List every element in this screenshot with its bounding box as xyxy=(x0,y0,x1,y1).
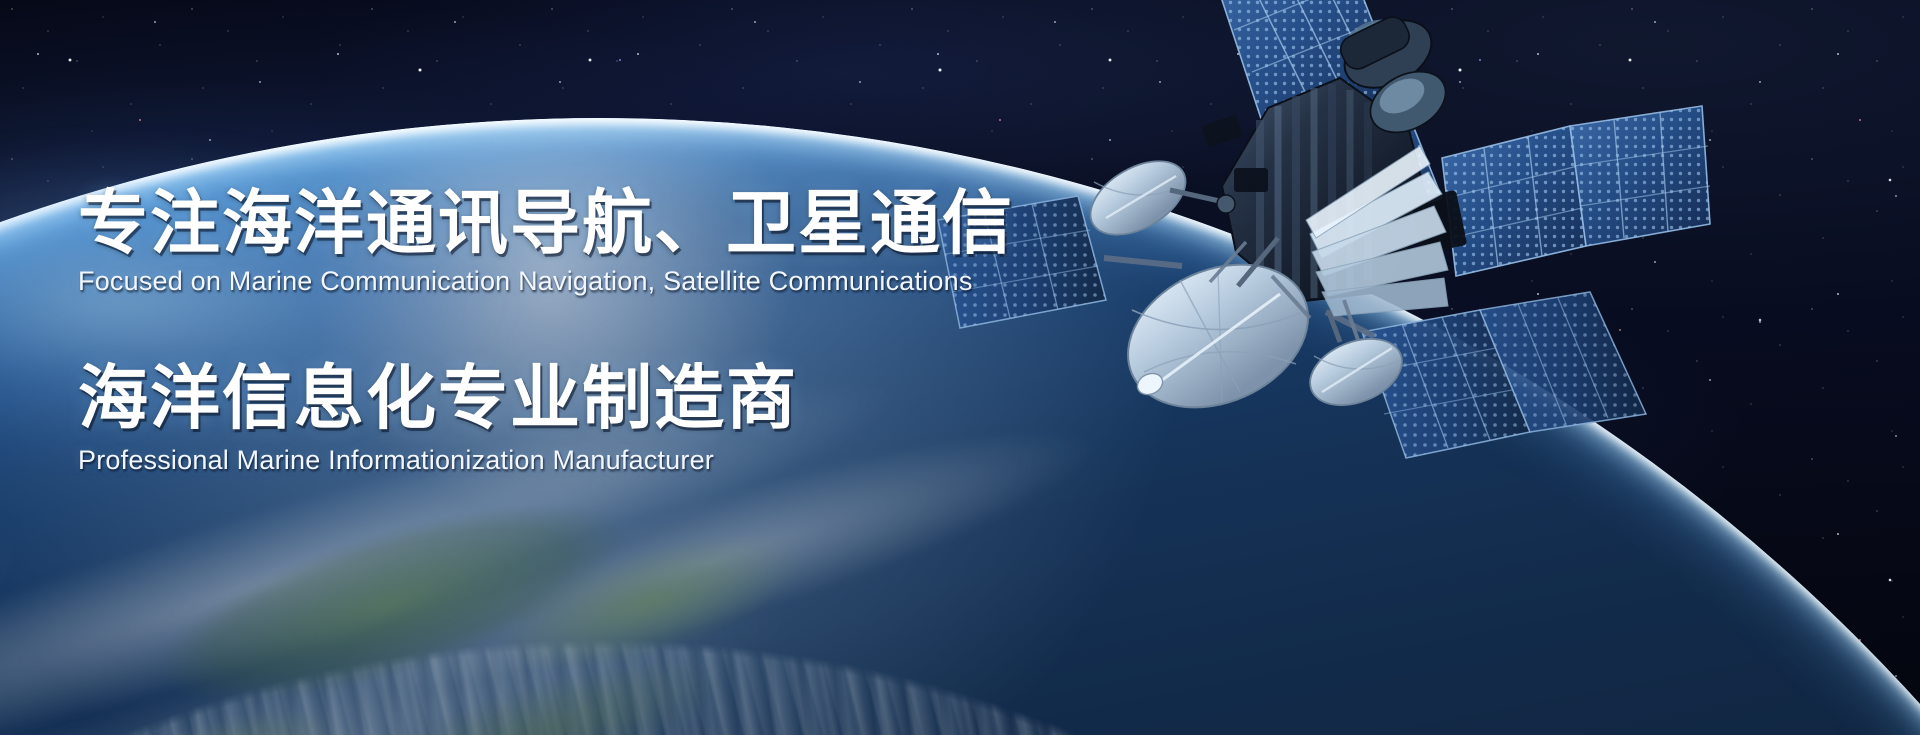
hero-banner: 专注海洋通讯导航、卫星通信 Focused on Marine Communic… xyxy=(0,0,1920,735)
headline-cn-1: 专注海洋通讯导航、卫星通信 xyxy=(78,186,1178,260)
headline-en-2: Professional Marine Informationization M… xyxy=(78,445,1178,476)
headline-en-1: Focused on Marine Communication Navigati… xyxy=(78,266,1178,297)
headline-cn-2: 海洋信息化专业制造商 xyxy=(78,361,1178,435)
headline-block-1: 专注海洋通讯导航、卫星通信 Focused on Marine Communic… xyxy=(78,186,1178,297)
hero-copy: 专注海洋通讯导航、卫星通信 Focused on Marine Communic… xyxy=(78,186,1178,476)
headline-block-2: 海洋信息化专业制造商 Professional Marine Informati… xyxy=(78,361,1178,476)
